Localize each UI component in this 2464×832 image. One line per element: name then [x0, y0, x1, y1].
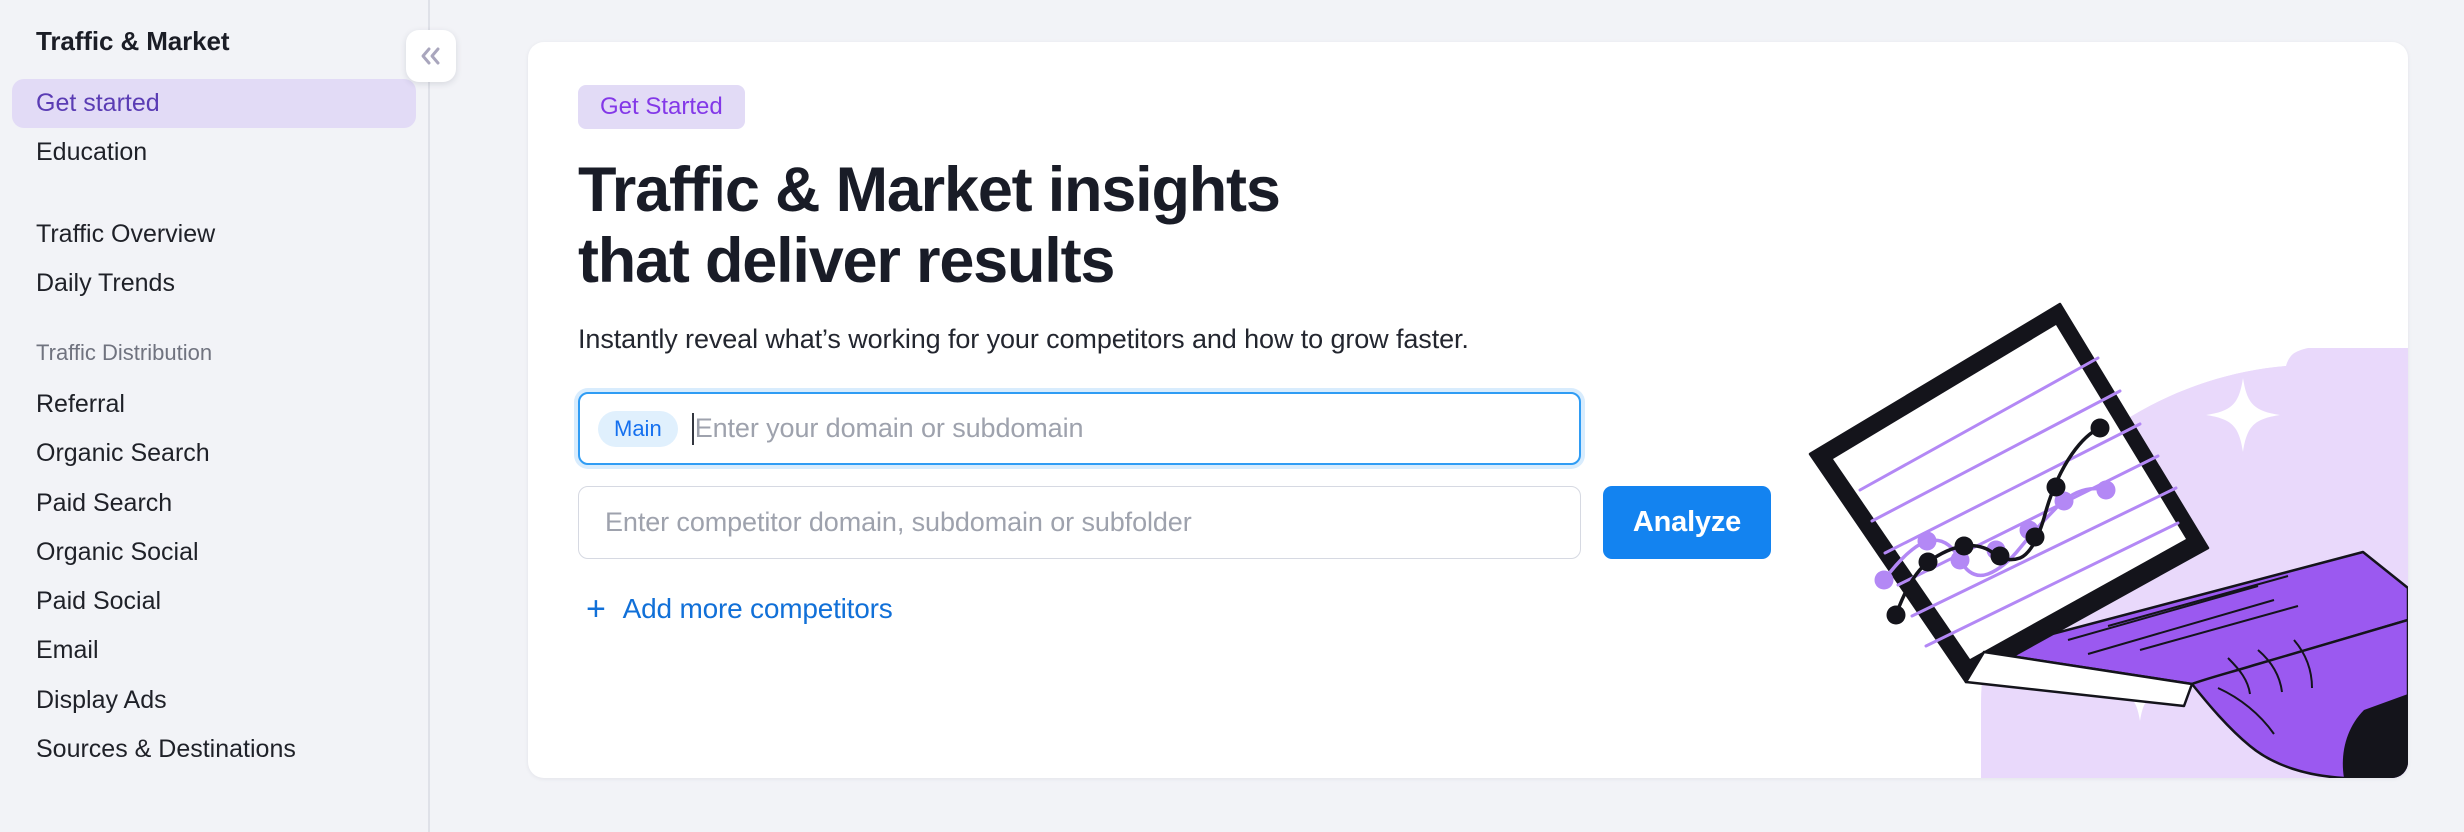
get-started-badge: Get Started [578, 85, 745, 129]
sidebar-item-email[interactable]: Email [12, 626, 416, 675]
sidebar-section-traffic-distribution: Traffic Distribution [12, 340, 416, 366]
headline-line-1: Traffic & Market insights [578, 155, 1280, 225]
sidebar-item-organic-social[interactable]: Organic Social [12, 528, 416, 577]
sidebar-item-daily-trends[interactable]: Daily Trends [12, 259, 416, 308]
text-caret [692, 413, 694, 445]
headline-line-2: that deliver results [578, 226, 1114, 296]
sidebar-item-organic-search[interactable]: Organic Search [12, 429, 416, 478]
plus-icon: + [586, 592, 606, 626]
sidebar-item-paid-social[interactable]: Paid Social [12, 577, 416, 626]
main-domain-input[interactable]: Main Enter your domain or subdomain [578, 392, 1581, 465]
sidebar-item-sources-destinations[interactable]: Sources & Destinations [12, 725, 416, 774]
competitor-domain-input[interactable]: Enter competitor domain, subdomain or su… [578, 486, 1581, 559]
get-started-card: Get Started Traffic & Market insights th… [528, 42, 2408, 778]
card-content: Get Started Traffic & Market insights th… [528, 42, 2408, 626]
sidebar-item-get-started[interactable]: Get started [12, 79, 416, 128]
sidebar-item-traffic-overview[interactable]: Traffic Overview [12, 210, 416, 259]
sidebar-item-paid-search[interactable]: Paid Search [12, 479, 416, 528]
nav-spacer [12, 178, 416, 210]
sidebar: Traffic & Market Get started Education T… [0, 0, 430, 832]
sparkle-icon [2109, 658, 2172, 721]
double-chevron-left-icon [416, 44, 446, 68]
add-more-competitors-button[interactable]: + Add more competitors [586, 592, 893, 626]
main-domain-placeholder: Enter your domain or subdomain [695, 413, 1084, 444]
page-title: Traffic & Market insights that deliver r… [578, 155, 2408, 297]
competitor-domain-row: Enter competitor domain, subdomain or su… [578, 486, 2408, 559]
competitor-domain-placeholder: Enter competitor domain, subdomain or su… [597, 507, 1192, 538]
main-domain-row: Main Enter your domain or subdomain [578, 392, 2408, 465]
sidebar-item-referral[interactable]: Referral [12, 380, 416, 429]
main-chip-badge: Main [598, 411, 678, 447]
sidebar-nav-primary: Get started Education Traffic Overview D… [0, 79, 428, 774]
nav-spacer [12, 308, 416, 340]
add-more-competitors-label: Add more competitors [623, 593, 893, 625]
page-subtitle: Instantly reveal what’s working for your… [578, 324, 2408, 355]
analyze-button[interactable]: Analyze [1603, 486, 1771, 559]
sidebar-item-display-ads[interactable]: Display Ads [12, 676, 416, 725]
sidebar-collapse-button[interactable] [406, 30, 456, 82]
row-spacer [578, 465, 2408, 486]
sidebar-title: Traffic & Market [0, 26, 428, 57]
sidebar-item-education[interactable]: Education [12, 128, 416, 177]
analyze-form: Main Enter your domain or subdomain Ente… [578, 392, 2408, 626]
